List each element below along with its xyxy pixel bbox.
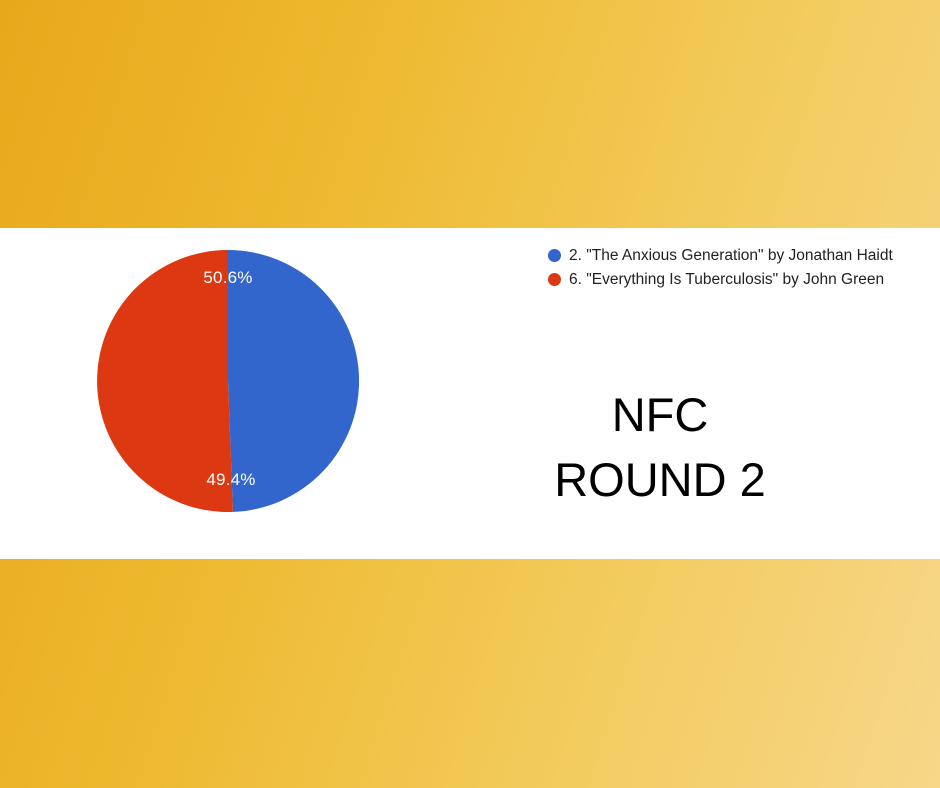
- slide-canvas: 50.6% 49.4% 2. "The Anxious Generation" …: [0, 0, 940, 788]
- chart-legend: 2. "The Anxious Generation" by Jonathan …: [548, 245, 893, 294]
- legend-swatch-blue-icon: [548, 249, 561, 262]
- legend-item-anxious-generation[interactable]: 2. "The Anxious Generation" by Jonathan …: [548, 245, 893, 266]
- slide-title-line-2: ROUND 2: [475, 448, 845, 513]
- slide-title: NFC ROUND 2: [475, 383, 845, 513]
- pie-slice-label-blue: 49.4%: [206, 470, 255, 490]
- pie-chart: 50.6% 49.4%: [97, 250, 359, 512]
- slide-title-line-1: NFC: [475, 383, 845, 448]
- pie-slice-label-red: 50.6%: [203, 268, 252, 288]
- legend-swatch-red-icon: [548, 273, 561, 286]
- legend-item-label: 6. "Everything Is Tuberculosis" by John …: [569, 269, 884, 290]
- legend-item-everything-is-tuberculosis[interactable]: 6. "Everything Is Tuberculosis" by John …: [548, 269, 893, 290]
- legend-item-label: 2. "The Anxious Generation" by Jonathan …: [569, 245, 893, 266]
